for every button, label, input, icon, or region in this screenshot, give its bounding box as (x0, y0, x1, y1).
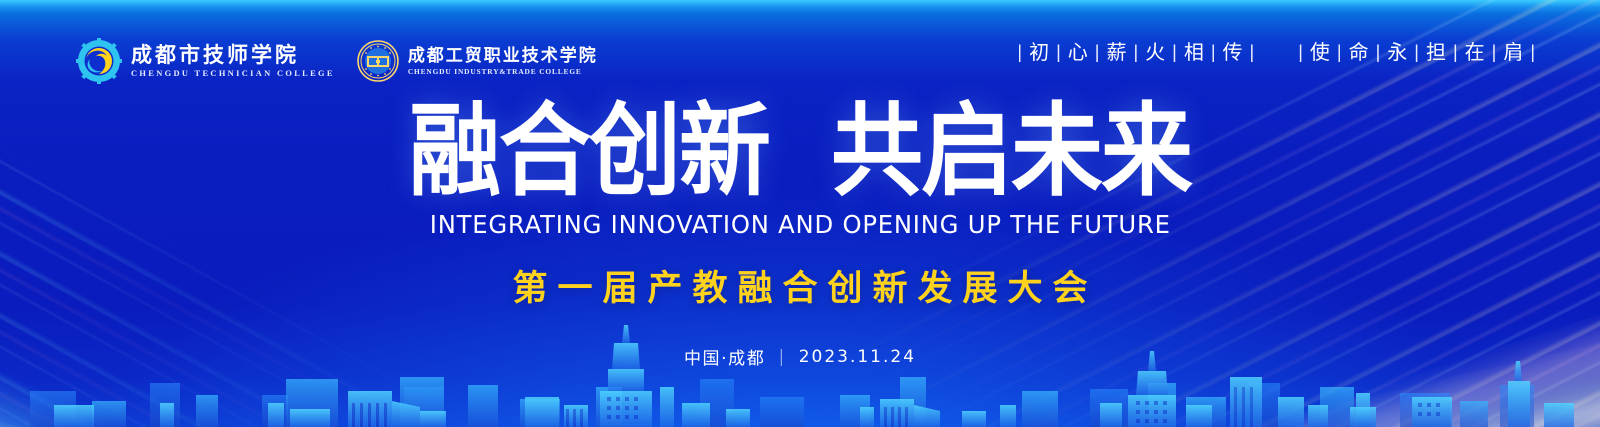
headline-part-1: 融合创新 (409, 101, 769, 202)
slogan-char: 担 (1426, 42, 1446, 62)
slogan-separator: | (1369, 43, 1388, 61)
event-location: 中国·成都 (684, 344, 765, 369)
logo-name-en: CHENGDU TECHNICIAN COLLEGE (131, 69, 335, 78)
slogan-char: 命 (1349, 42, 1369, 62)
header-slogan: | 初 | 心 | 薪 | 火 | 相 | 传 | | 使 | 命 | 永 (1010, 42, 1542, 62)
slogan-char: 肩 (1503, 42, 1523, 62)
slogan-separator: | (1204, 43, 1223, 61)
logo-name-cn: 成都市技师学院 (131, 44, 335, 68)
main-headline: 融合创新 共启未来 (409, 106, 1191, 198)
subtitle-chinese: 第一届产教融合创新发展大会 (502, 260, 1097, 311)
slogan-group-2: | 使 | 命 | 永 | 担 | 在 | 肩 | (1291, 42, 1542, 62)
slogan-separator: | (1330, 43, 1349, 61)
slogan-separator: | (1291, 43, 1310, 61)
slogan-char: 初 (1029, 42, 1049, 62)
slogan-char: 传 (1223, 42, 1243, 62)
slogan-char: 使 (1310, 42, 1330, 62)
slogan-separator: | (1446, 43, 1465, 61)
slogan-separator: | (1485, 43, 1504, 61)
slogan-char: 在 (1465, 42, 1485, 62)
slogan-separator: | (1126, 43, 1145, 61)
headline-part-2: 共启未来 (831, 101, 1191, 202)
slogan-separator: | (1088, 43, 1107, 61)
banner-header: 成都市技师学院 CHENGDU TECHNICIAN COLLEGE (0, 0, 1600, 110)
slogan-char: 相 (1184, 42, 1204, 62)
banner-content: 融合创新 共启未来 INTEGRATING INNOVATION AND OPE… (0, 106, 1600, 369)
gear-swoosh-emblem-icon (76, 38, 122, 84)
meta-divider: | (778, 347, 785, 367)
logo-name-cn: 成都工贸职业技术学院 (408, 46, 598, 65)
slogan-char: 薪 (1106, 42, 1126, 62)
event-date: 2023.11.24 (799, 347, 916, 367)
slogan-separator: | (1523, 43, 1542, 61)
slogan-separator: | (1243, 43, 1262, 61)
circular-seal-emblem-icon (357, 40, 399, 82)
slogan-group-1: | 初 | 心 | 薪 | 火 | 相 | 传 | (1010, 42, 1261, 62)
slogan-char: 火 (1145, 42, 1165, 62)
slogan-separator: | (1010, 43, 1029, 61)
logo-chengdu-industry-trade-college: 成都工贸职业技术学院 CHENGDU INDUSTRY&TRADE COLLEG… (357, 40, 598, 82)
logo-chengdu-technician-college: 成都市技师学院 CHENGDU TECHNICIAN COLLEGE (76, 38, 335, 84)
logo-group: 成都市技师学院 CHENGDU TECHNICIAN COLLEGE (76, 38, 598, 84)
slogan-separator: | (1049, 43, 1068, 61)
logo-text-block: 成都市技师学院 CHENGDU TECHNICIAN COLLEGE (131, 44, 335, 79)
subtitle-english: INTEGRATING INNOVATION AND OPENING UP TH… (430, 210, 1171, 239)
event-meta: 中国·成都 | 2023.11.24 (684, 344, 916, 369)
slogan-char: 永 (1387, 42, 1407, 62)
slogan-char: 心 (1068, 42, 1088, 62)
slogan-separator: | (1407, 43, 1426, 61)
logo-name-en: CHENGDU INDUSTRY&TRADE COLLEGE (408, 67, 598, 76)
conference-banner: 成都市技师学院 CHENGDU TECHNICIAN COLLEGE (0, 0, 1600, 427)
logo-text-block: 成都工贸职业技术学院 CHENGDU INDUSTRY&TRADE COLLEG… (408, 46, 598, 76)
slogan-separator: | (1165, 43, 1184, 61)
